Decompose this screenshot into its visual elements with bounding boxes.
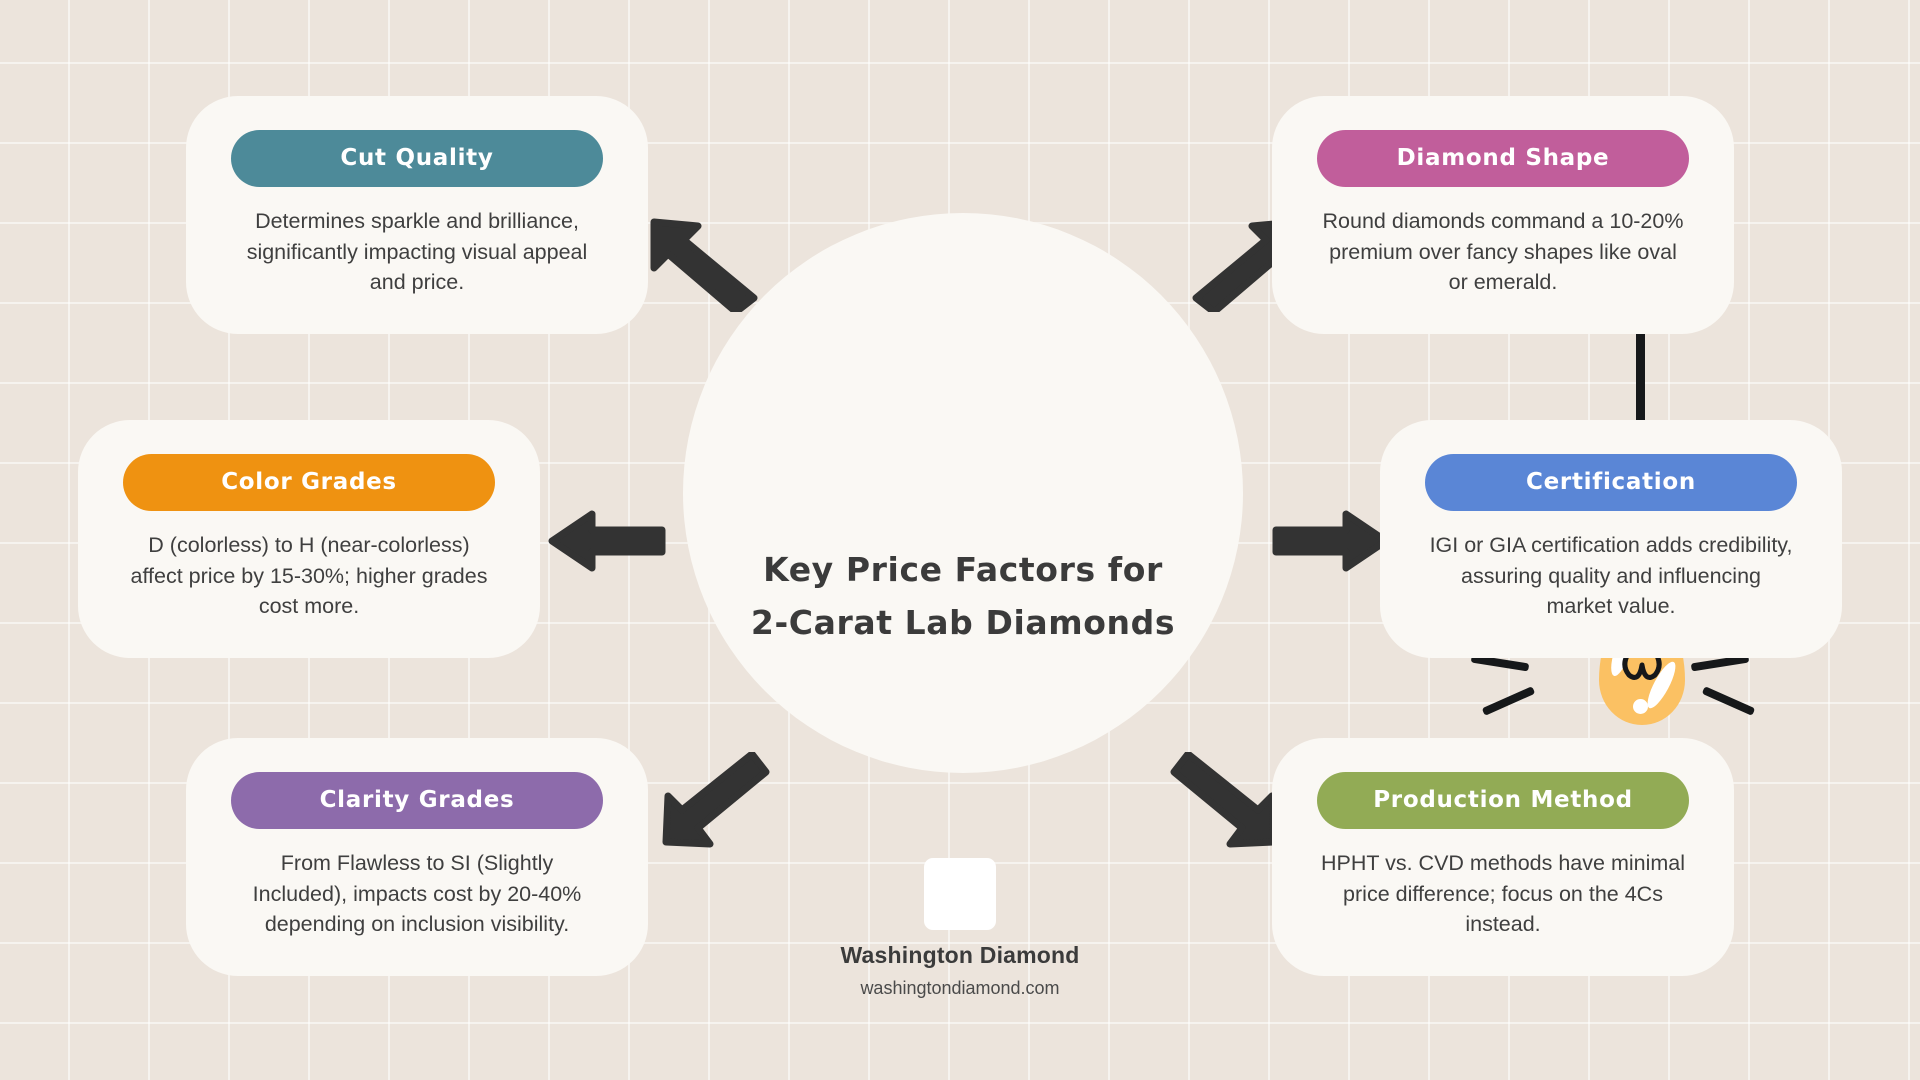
card-title-diamond-shape: Diamond Shape — [1317, 130, 1689, 187]
card-diamond-shape[interactable]: Diamond Shape Round diamonds command a 1… — [1272, 96, 1734, 334]
brand-name: Washington Diamond — [0, 942, 1920, 969]
card-body-color-grades: D (colorless) to H (near-colorless) affe… — [104, 530, 514, 622]
card-title-certification: Certification — [1425, 454, 1797, 511]
card-title-clarity-grades: Clarity Grades — [231, 772, 603, 829]
footer: Washington Diamond washingtondiamond.com — [0, 858, 1920, 999]
page-title-line-2: 2-Carat Lab Diamonds — [683, 596, 1243, 649]
brand-website: washingtondiamond.com — [0, 978, 1920, 999]
card-title-color-grades: Color Grades — [123, 454, 495, 511]
page-title-line-1: Key Price Factors for — [763, 550, 1163, 589]
card-body-cut-quality: Determines sparkle and brilliance, signi… — [212, 206, 622, 298]
card-title-production-method: Production Method — [1317, 772, 1689, 829]
arrow-down-left-icon — [662, 752, 772, 852]
card-cut-quality[interactable]: Cut Quality Determines sparkle and brill… — [186, 96, 648, 334]
page-title: Key Price Factors for 2-Carat Lab Diamon… — [683, 543, 1243, 650]
brand-logo-icon — [924, 858, 996, 930]
card-body-diamond-shape: Round diamonds command a 10-20% premium … — [1298, 206, 1708, 298]
card-title-cut-quality: Cut Quality — [231, 130, 603, 187]
arrow-right-icon — [1272, 510, 1390, 572]
center-hub: Key Price Factors for 2-Carat Lab Diamon… — [683, 213, 1243, 773]
infographic-canvas: Key Price Factors for 2-Carat Lab Diamon… — [0, 0, 1920, 1080]
card-body-certification: IGI or GIA certification adds credibilit… — [1406, 530, 1816, 622]
card-color-grades[interactable]: Color Grades D (colorless) to H (near-co… — [78, 420, 540, 658]
arrow-left-icon — [548, 510, 666, 572]
arrow-up-left-icon — [650, 212, 760, 312]
arrow-down-right-icon — [1168, 752, 1278, 852]
card-certification[interactable]: Certification IGI or GIA certification a… — [1380, 420, 1842, 658]
